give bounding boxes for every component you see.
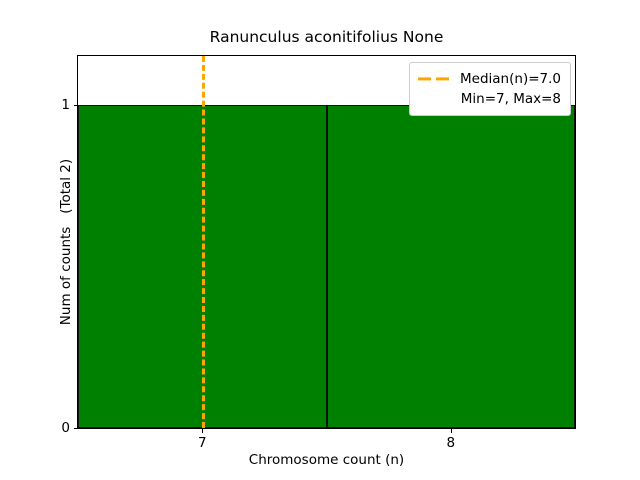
legend-entry-minmax: Min=7, Max=8 bbox=[418, 89, 561, 109]
legend-box: Median(n)=7.0 Min=7, Max=8 bbox=[409, 62, 571, 116]
y-axis-label: Num of counts (Total 2) bbox=[46, 55, 86, 429]
legend-label-minmax: Min=7, Max=8 bbox=[418, 91, 561, 107]
dashed-line-icon bbox=[418, 74, 451, 84]
y-axis-label-line1: Num of counts bbox=[58, 227, 74, 326]
legend-entry-median: Median(n)=7.0 bbox=[418, 69, 561, 89]
figure-canvas: Ranunculus aconitifolius None Median(n)=… bbox=[0, 0, 640, 480]
x-axis-label: Chromosome count (n) bbox=[77, 452, 576, 468]
x-tick-mark bbox=[202, 428, 203, 433]
median-line bbox=[202, 56, 205, 428]
x-tick-mark bbox=[451, 428, 452, 433]
plot-axes: Median(n)=7.0 Min=7, Max=8 0178 bbox=[77, 55, 576, 429]
y-axis-label-line2: (Total 2) bbox=[58, 159, 74, 214]
x-tick-label: 7 bbox=[198, 436, 207, 451]
legend-label-median: Median(n)=7.0 bbox=[460, 71, 561, 87]
x-tick-label: 8 bbox=[446, 436, 455, 451]
bar bbox=[327, 105, 576, 428]
chart-title: Ranunculus aconitifolius None bbox=[77, 28, 576, 46]
